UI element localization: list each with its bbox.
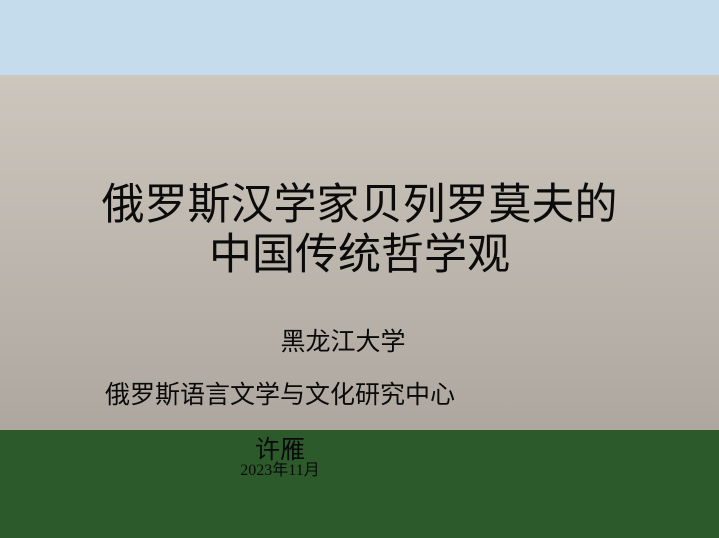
- page-title: 俄罗斯汉学家贝列罗莫夫的 中国传统哲学观: [3, 181, 716, 281]
- presentation-date: 2023年11月: [0, 463, 560, 479]
- affiliation-center: 俄罗斯语言文学与文化研究中心: [0, 383, 560, 408]
- page-title-line-1: 俄罗斯汉学家贝列罗莫夫的: [13, 181, 706, 231]
- presentation-title-slide: 黑龙江大学 HEILONGJIANG UNIVERSITY 博学慎思 参天尽物 …: [0, 0, 719, 538]
- slide-body-text: 黑龙江大学 俄罗斯语言文学与文化研究中心 许雁 2023年11月: [0, 330, 560, 479]
- author-name: 许雁: [0, 438, 560, 463]
- affiliation-university: 黑龙江大学: [126, 330, 560, 355]
- page-title-line-2: 中国传统哲学观: [13, 231, 706, 281]
- title-band: 俄罗斯汉学家贝列罗莫夫的 中国传统哲学观: [3, 163, 716, 299]
